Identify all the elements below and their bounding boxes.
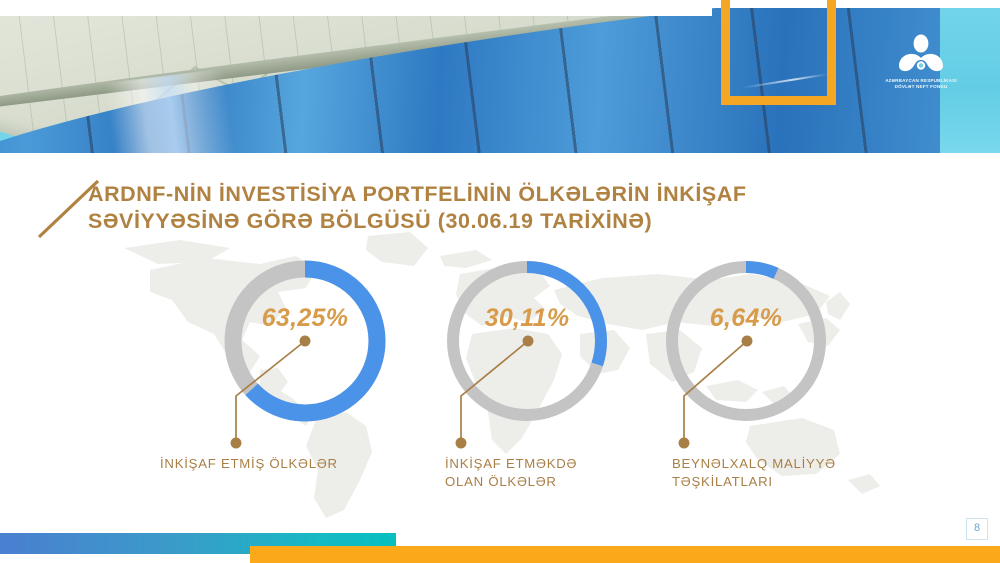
donut-value-3: 6,64%: [657, 304, 835, 333]
donut-caption-2: İNKİŞAF ETMƏKDƏ OLAN ÖLKƏLƏR: [445, 455, 675, 491]
donut-chart-3: [657, 252, 835, 430]
glass-reflection: [105, 68, 248, 153]
donut-inkisaf-etmekde-olan[interactable]: 30,11%: [438, 252, 616, 430]
donut-chart-2: [438, 252, 616, 430]
slide: AZƏRBAYCAN RESPUBLİKASI DÖVLƏT NEFT FOND…: [0, 0, 1000, 563]
banner-top-gap: [0, 8, 712, 16]
page-number: 8: [966, 518, 988, 540]
donut-beynelxalq-maliyye[interactable]: 6,64%: [657, 252, 835, 430]
sofaz-logo: AZƏRBAYCAN RESPUBLİKASI DÖVLƏT NEFT FOND…: [866, 34, 976, 91]
donut-value-2: 30,11%: [438, 304, 616, 333]
logo-caption: AZƏRBAYCAN RESPUBLİKASI DÖVLƏT NEFT FOND…: [866, 78, 976, 91]
orange-accent-frame: [721, 0, 836, 105]
donut-caption-3: BEYNƏLXALQ MALİYYƏ TƏŞKİLATLARI: [672, 455, 912, 491]
page-title: ARDNF-NİN İNVESTİSİYA PORTFELİNİN ÖLKƏLƏ…: [88, 181, 848, 235]
footer-bar-orange: [250, 546, 1000, 563]
donut-inkisaf-etmis-olkeler[interactable]: 63,25%: [216, 252, 394, 430]
donut-chart-group: 63,25% 30,11% 6,64%: [0, 252, 1000, 452]
donut-chart-1: [216, 252, 394, 430]
donut-value-1: 63,25%: [216, 304, 394, 333]
donut-caption-1: İNKİŞAF ETMİŞ ÖLKƏLƏR: [160, 455, 420, 473]
header-banner: AZƏRBAYCAN RESPUBLİKASI DÖVLƏT NEFT FOND…: [0, 8, 1000, 153]
sofaz-emblem-icon: [894, 34, 948, 74]
